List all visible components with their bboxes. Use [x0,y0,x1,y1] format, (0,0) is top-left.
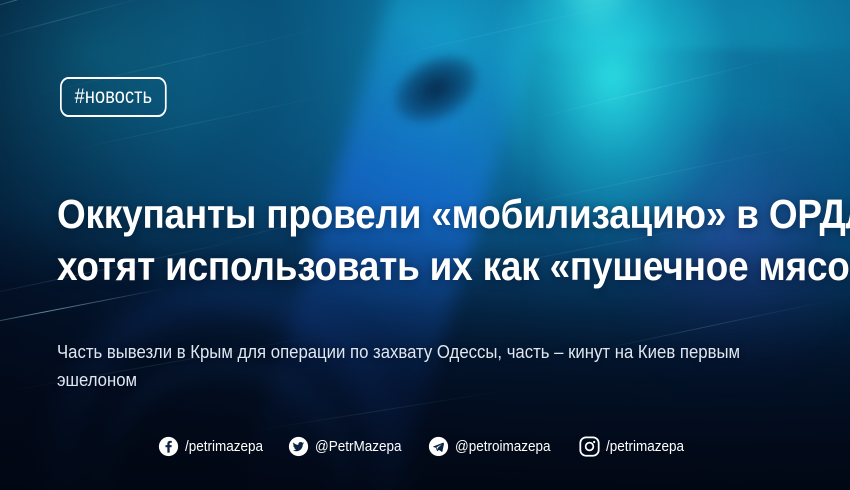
subtitle: Часть вывезли в Крым для операции по зах… [57,339,787,395]
headline-line-2: хотят использовать их как «пушечное мясо… [57,240,741,292]
news-card: #новость Оккупанты провели «мобилизацию»… [0,0,850,490]
headline: Оккупанты провели «мобилизацию» в ОРДЛО … [57,188,817,292]
twitter-icon [288,436,309,457]
telegram-icon [428,436,449,457]
card-content: #новость Оккупанты провели «мобилизацию»… [0,0,850,490]
social-link-facebook[interactable]: /petrimazepa [158,436,272,457]
social-link-instagram[interactable]: /petrimazepa [579,436,693,457]
instagram-icon [579,436,600,457]
telegram-handle: @petroimazepa [455,438,551,455]
twitter-handle: @PetrMazepa [315,438,401,455]
subtitle-line-1: Часть вывезли в Крым для операции по зах… [57,339,736,367]
hashtag-badge[interactable]: #новость [60,77,167,117]
facebook-handle: /petrimazepa [185,438,263,455]
facebook-icon [158,436,179,457]
instagram-handle: /petrimazepa [606,438,684,455]
social-links-bar: /petrimazepa @PetrMazepa [0,436,850,457]
social-link-telegram[interactable]: @petroimazepa [428,436,561,457]
social-link-twitter[interactable]: @PetrMazepa [288,436,411,457]
subtitle-line-2: эшелоном [57,367,736,395]
headline-line-1: Оккупанты провели «мобилизацию» в ОРДЛО … [57,188,741,240]
